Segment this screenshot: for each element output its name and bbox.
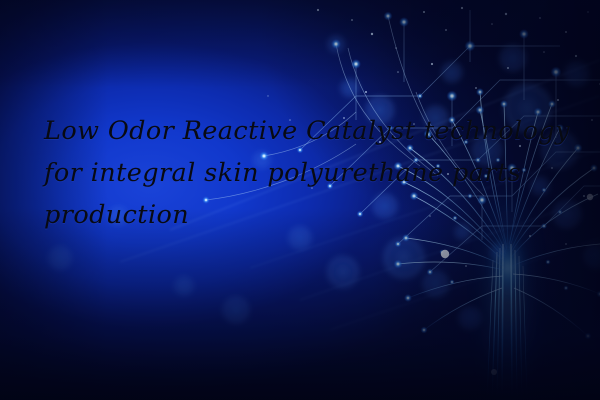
banner-image: Low Odor Reactive Catalyst technology fo… — [0, 0, 600, 400]
headline-text: Low Odor Reactive Catalyst technology fo… — [44, 110, 574, 236]
